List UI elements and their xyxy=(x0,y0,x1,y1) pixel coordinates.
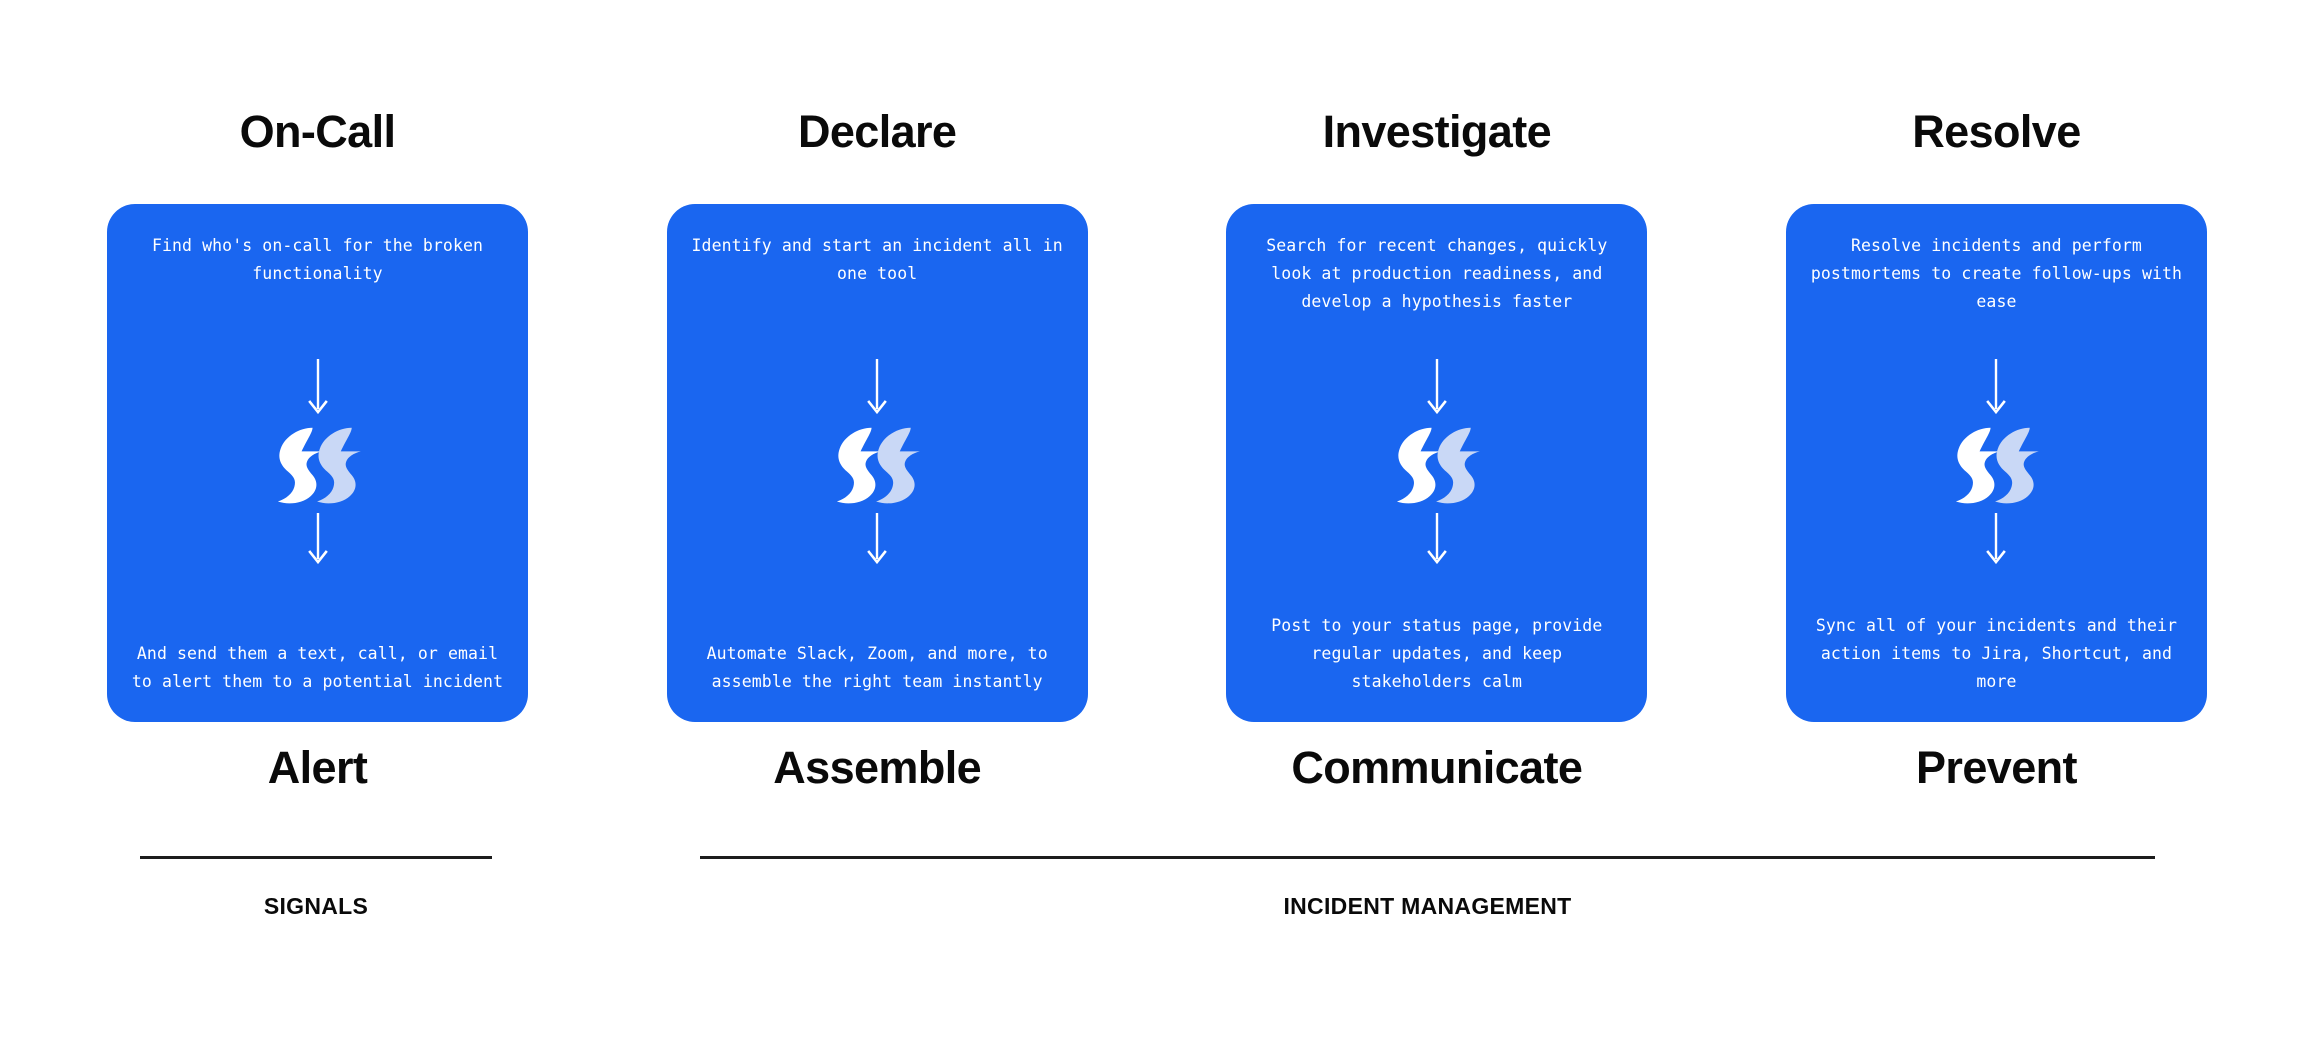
section-divider xyxy=(700,856,2155,859)
stage-top-heading: Investigate xyxy=(1323,108,1552,154)
card-bottom-text: Automate Slack, Zoom, and more, to assem… xyxy=(689,640,1066,696)
arrow-down-icon xyxy=(306,513,330,569)
stage-column-investigate: Investigate Search for recent changes, q… xyxy=(1226,108,1647,790)
arrow-down-icon xyxy=(865,359,889,419)
section-incident-management: INCIDENT MANAGEMENT xyxy=(700,856,2155,918)
firehydrant-logo xyxy=(272,425,364,507)
card-bottom-text: And send them a text, call, or email to … xyxy=(129,640,506,696)
arrow-down-icon xyxy=(1984,513,2008,569)
arrow-down-icon xyxy=(1425,513,1449,569)
section-label: INCIDENT MANAGEMENT xyxy=(700,895,2155,918)
card-bottom-text: Post to your status page, provide regula… xyxy=(1248,612,1625,696)
card-flow xyxy=(1248,316,1625,612)
card-top-text: Resolve incidents and perform postmortem… xyxy=(1808,230,2185,316)
stage-columns: On-Call Find who's on-call for the broke… xyxy=(107,108,2207,790)
stage-column-on-call: On-Call Find who's on-call for the broke… xyxy=(107,108,528,790)
infographic-canvas: On-Call Find who's on-call for the broke… xyxy=(0,0,2314,1054)
stage-column-declare: Declare Identify and start an incident a… xyxy=(667,108,1088,790)
stage-card: Identify and start an incident all in on… xyxy=(667,204,1088,722)
stage-card: Resolve incidents and perform postmortem… xyxy=(1786,204,2207,722)
stage-bottom-heading: Prevent xyxy=(1916,744,2077,790)
arrow-down-icon xyxy=(1984,359,2008,419)
card-bottom-text: Sync all of your incidents and their act… xyxy=(1808,612,2185,696)
firehydrant-logo xyxy=(1391,425,1483,507)
arrow-down-icon xyxy=(865,513,889,569)
arrow-down-icon xyxy=(1425,359,1449,419)
section-signals: SIGNALS xyxy=(140,856,492,918)
firehydrant-logo xyxy=(831,425,923,507)
stage-bottom-heading: Assemble xyxy=(773,744,981,790)
card-top-text: Identify and start an incident all in on… xyxy=(689,230,1066,288)
stage-card: Search for recent changes, quickly look … xyxy=(1226,204,1647,722)
stage-top-heading: Declare xyxy=(798,108,956,154)
stage-bottom-heading: Alert xyxy=(268,744,368,790)
card-top-text: Find who's on-call for the broken functi… xyxy=(129,230,506,288)
section-label: SIGNALS xyxy=(140,895,492,918)
card-flow xyxy=(129,288,506,640)
card-top-text: Search for recent changes, quickly look … xyxy=(1248,230,1625,316)
arrow-down-icon xyxy=(306,359,330,419)
stage-top-heading: On-Call xyxy=(240,108,396,154)
stage-bottom-heading: Communicate xyxy=(1291,744,1582,790)
stage-top-heading: Resolve xyxy=(1912,108,2080,154)
stage-card: Find who's on-call for the broken functi… xyxy=(107,204,528,722)
card-flow xyxy=(689,288,1066,640)
section-divider xyxy=(140,856,492,859)
card-flow xyxy=(1808,316,2185,612)
stage-column-resolve: Resolve Resolve incidents and perform po… xyxy=(1786,108,2207,790)
firehydrant-logo xyxy=(1950,425,2042,507)
